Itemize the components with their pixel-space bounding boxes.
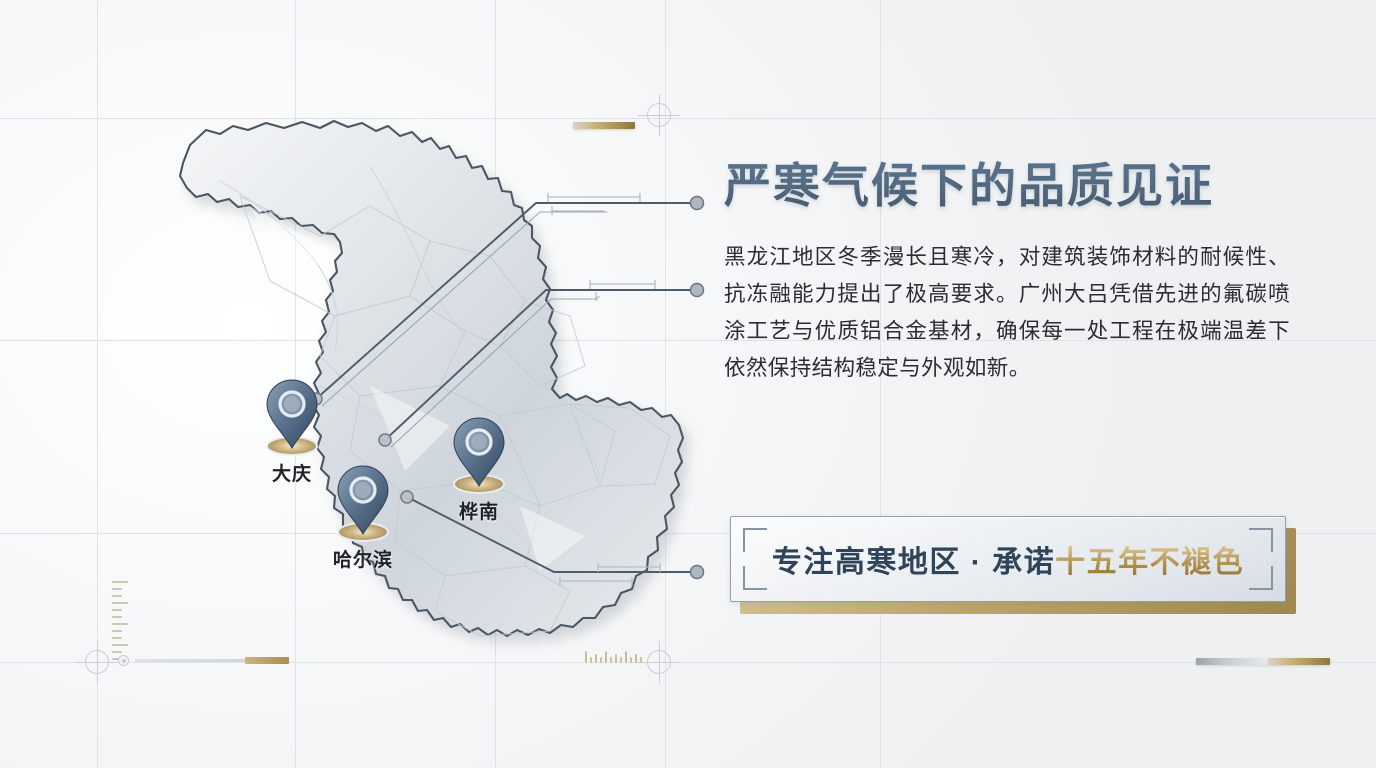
map-marker-huanan[interactable]: 桦南 <box>442 414 516 524</box>
body-paragraph: 黑龙江地区冬季漫长且寒冷，对建筑装饰材料的耐候性、抗冻融能力提出了极高要求。广州… <box>724 239 1290 387</box>
banner-text-primary: 专注高寒地区 · 承诺 <box>772 546 1055 579</box>
content-panel: 严寒气候下的品质见证 黑龙江地区冬季漫长且寒冷，对建筑装饰材料的耐候性、抗冻融能… <box>724 160 1304 387</box>
location-pin-icon <box>447 414 511 496</box>
heilongjiang-map[interactable] <box>70 86 710 686</box>
marker-label: 桦南 <box>442 497 516 524</box>
banner-text: 专注高寒地区 · 承诺十五年不褪色 <box>772 537 1244 581</box>
marker-label: 哈尔滨 <box>326 545 400 572</box>
promise-banner[interactable]: 专注高寒地区 · 承诺十五年不褪色 <box>730 516 1296 618</box>
banner-text-highlight: 十五年不褪色 <box>1055 546 1244 579</box>
page-title: 严寒气候下的品质见证 <box>724 160 1304 213</box>
corner-bracket-icon <box>1249 528 1273 552</box>
map-marker-daqing[interactable]: 大庆 <box>255 376 329 486</box>
location-pin-icon <box>331 462 395 544</box>
location-pin-icon <box>260 376 324 458</box>
corner-bracket-icon <box>1249 566 1273 590</box>
corner-bracket-icon <box>743 566 767 590</box>
marker-label: 大庆 <box>255 459 329 486</box>
accent-bar-gold <box>1268 658 1330 665</box>
poster-canvas: 大庆 哈尔滨 桦南 严寒气候下的品质见证 黑龙江地区冬季漫长且寒冷，对建筑装饰材… <box>0 0 1376 768</box>
banner-plate[interactable]: 专注高寒地区 · 承诺十五年不褪色 <box>730 516 1286 602</box>
corner-bracket-icon <box>743 528 767 552</box>
accent-bar-silver <box>1196 658 1268 665</box>
map-marker-harbin[interactable]: 哈尔滨 <box>326 462 400 572</box>
